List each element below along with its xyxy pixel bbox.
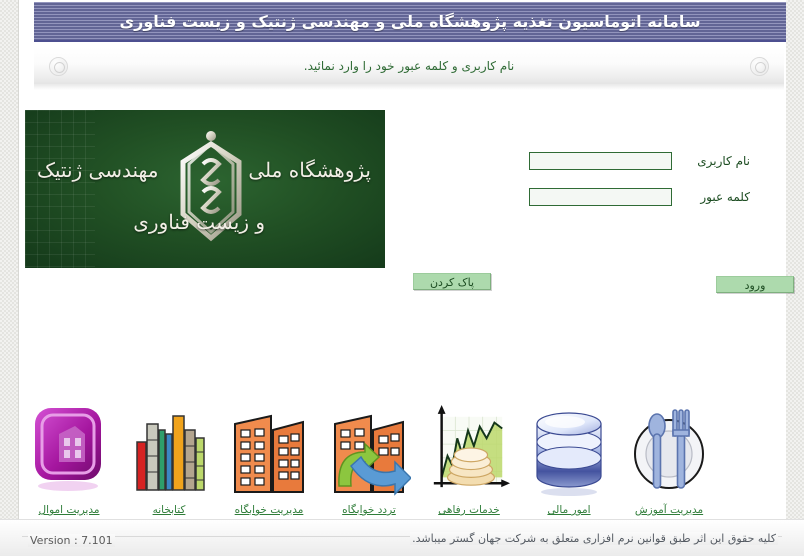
finance-database-icon [526,398,612,502]
module-education-management[interactable]: مدیریت آموزش [619,388,719,516]
left-margin-texture [0,0,19,556]
asset-management-icon [26,398,112,502]
password-input[interactable] [529,188,672,206]
module-welfare-services[interactable]: خدمات رفاهی [419,388,519,516]
module-dormitory-management[interactable]: مدیریت خوابگاه [219,388,319,516]
username-label: نام کاربری [686,154,750,168]
module-label: تردد خوابگاه [342,504,396,516]
module-label: امور مالی [547,504,590,516]
instruction-bar: نام کاربری و کلمه عبور خود را وارد نمائی… [34,46,784,86]
page-title: سامانه اتوماسیون تغذیه پژوهشگاه ملی و مه… [119,12,700,31]
welfare-chart-coins-icon [426,398,512,502]
copyright-text: کلیه حقوق این اثر طبق قوانین نرم افزاری … [410,532,778,545]
module-label: مدیریت خوابگاه [235,504,304,516]
logo-line-bottom: و زیست فناوری [133,210,265,234]
orb-right-icon [750,57,769,76]
module-finance[interactable]: امور مالی [519,388,619,516]
instruction-bar-shadow [34,84,784,90]
username-row: نام کاربری [529,152,750,170]
login-page: سامانه اتوماسیون تغذیه پژوهشگاه ملی و مه… [0,0,804,556]
module-label: خدمات رفاهی [438,504,500,516]
password-label: کلمه عبور [686,190,750,204]
password-row: کلمه عبور [529,188,750,206]
module-shortcut-strip: مدیریت اموال [19,388,786,516]
username-input[interactable] [529,152,672,170]
content-shell: سامانه اتوماسیون تغذیه پژوهشگاه ملی و مه… [19,0,786,556]
module-label: کتابخانه [153,504,186,516]
module-dormitory-traffic[interactable]: تردد خوابگاه [319,388,419,516]
page-footer: کلیه حقوق این اثر طبق قوانین نرم افزاری … [0,519,804,556]
app-header-band: سامانه اتوماسیون تغذیه پژوهشگاه ملی و مه… [34,2,786,42]
login-button[interactable]: ورود [716,276,794,293]
module-label: مدیریت اموال [39,504,100,516]
clear-button[interactable]: پاک کردن [413,273,491,290]
module-library[interactable]: کتابخانه [119,388,219,516]
catering-plate-icon [626,398,712,502]
module-asset-management[interactable]: مدیریت اموال [19,388,119,516]
library-books-icon [126,398,212,502]
dormitory-traffic-icon [326,398,412,502]
module-label: مدیریت آموزش [635,504,703,516]
orb-left-icon [49,57,68,76]
version-text: Version : 7.101 [28,534,115,547]
instruction-text: نام کاربری و کلمه عبور خود را وارد نمائی… [304,59,514,73]
dormitory-building-icon [226,398,312,502]
login-form: نام کاربری کلمه عبور [19,140,786,210]
